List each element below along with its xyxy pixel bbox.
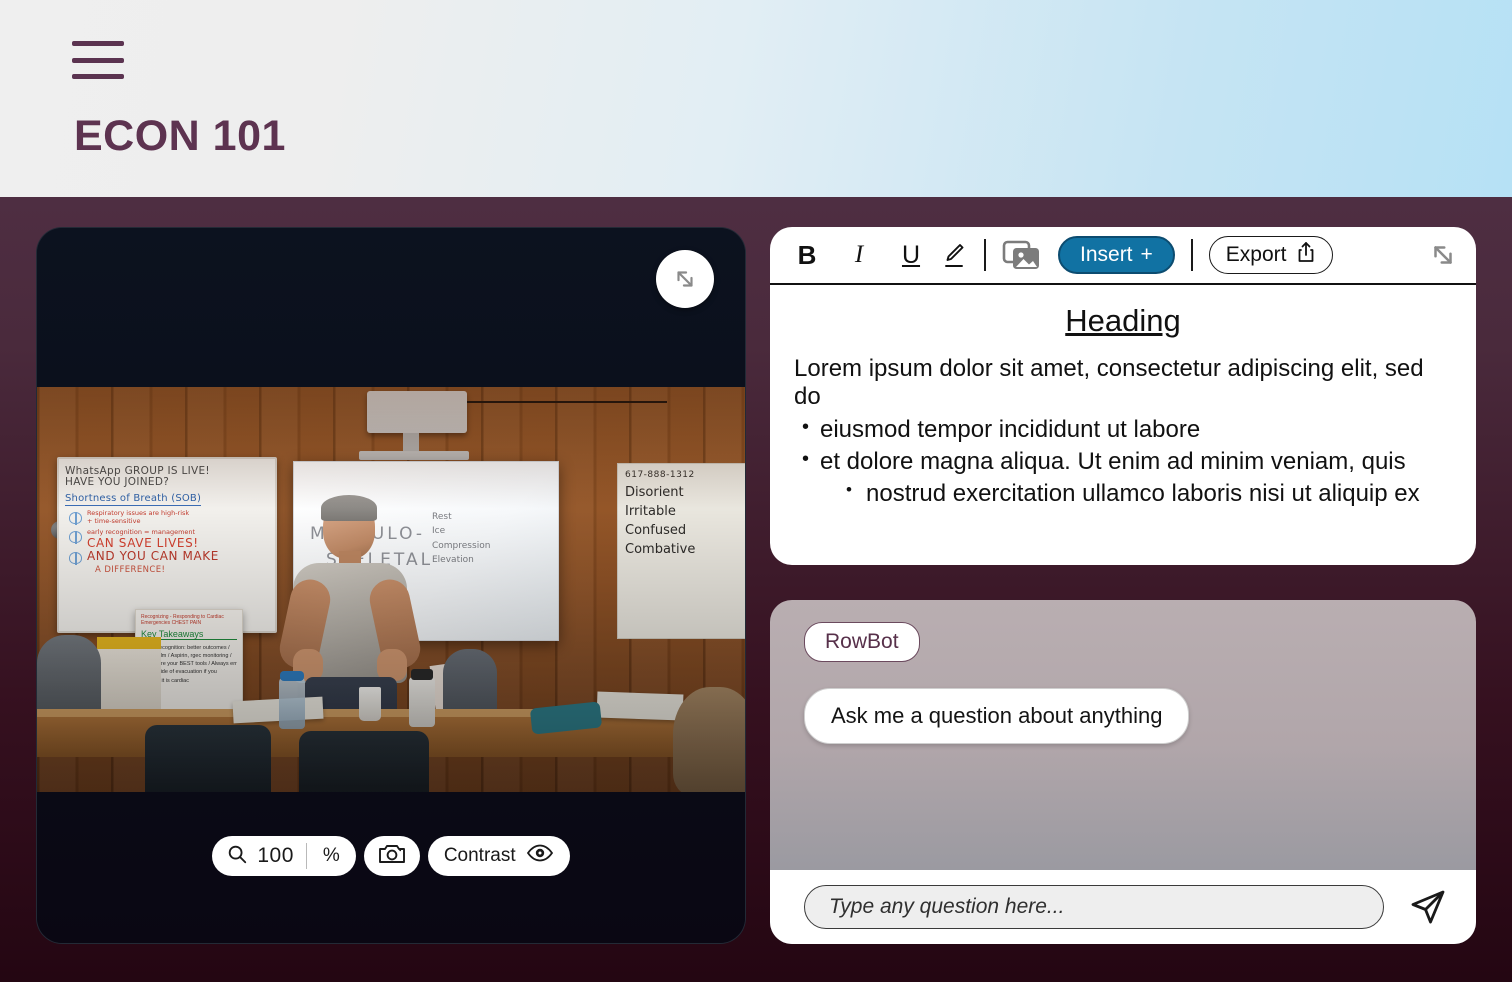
note-heading: Heading bbox=[794, 303, 1452, 339]
insert-label: Insert bbox=[1080, 243, 1133, 267]
bot-message-bubble: Ask me a question about anything bbox=[804, 688, 1189, 744]
bot-name-badge: RowBot bbox=[804, 622, 920, 662]
italic-button[interactable]: I bbox=[844, 235, 874, 275]
expand-diagonal-icon[interactable] bbox=[1428, 240, 1458, 270]
note-paragraph: Lorem ipsum dolor sit amet, consectetur … bbox=[794, 355, 1452, 412]
underline-button[interactable]: U bbox=[896, 235, 926, 275]
zoom-control[interactable]: 100 % bbox=[212, 836, 355, 876]
note-editor-panel: B I U Insert + bbox=[770, 227, 1476, 565]
app-root: ECON 101 WhatsApp GROUP IS LIVE! HAVE YO… bbox=[0, 0, 1512, 982]
images-icon[interactable] bbox=[1002, 235, 1042, 275]
magnifier-icon bbox=[226, 843, 248, 870]
expand-diagonal-icon[interactable] bbox=[656, 250, 714, 308]
camera-icon bbox=[378, 842, 406, 871]
plus-icon: + bbox=[1141, 243, 1153, 267]
share-upload-icon bbox=[1296, 241, 1316, 269]
classroom-photo: WhatsApp GROUP IS LIVE! HAVE YOU JOINED?… bbox=[37, 387, 746, 792]
photo-vignette bbox=[37, 387, 746, 792]
video-controls-bar: 100 % Contrast bbox=[37, 836, 745, 876]
toolbar-divider bbox=[984, 239, 986, 271]
bold-button[interactable]: B bbox=[792, 235, 822, 275]
app-header: ECON 101 bbox=[0, 0, 1512, 197]
video-panel: WhatsApp GROUP IS LIVE! HAVE YOU JOINED?… bbox=[36, 227, 746, 944]
insert-button[interactable]: Insert + bbox=[1058, 236, 1175, 274]
page-title: ECON 101 bbox=[74, 112, 286, 161]
pencil-highlight-icon[interactable] bbox=[938, 235, 968, 275]
camera-button[interactable] bbox=[364, 836, 420, 876]
note-content[interactable]: Heading Lorem ipsum dolor sit amet, cons… bbox=[770, 285, 1476, 509]
note-bullet-sub: nostrud exercitation ullamco laboris nis… bbox=[794, 480, 1452, 508]
hamburger-bar bbox=[72, 74, 124, 79]
contrast-label: Contrast bbox=[444, 845, 516, 867]
note-toolbar: B I U Insert + bbox=[770, 227, 1476, 285]
video-stage[interactable]: WhatsApp GROUP IS LIVE! HAVE YOU JOINED?… bbox=[37, 228, 745, 943]
export-button[interactable]: Export bbox=[1209, 236, 1333, 274]
chat-messages: RowBot Ask me a question about anything bbox=[770, 600, 1476, 870]
export-label: Export bbox=[1226, 243, 1287, 267]
hamburger-bar bbox=[72, 58, 124, 63]
note-bullet: eiusmod tempor incididunt ut labore bbox=[794, 416, 1452, 444]
note-bullet-list: eiusmod tempor incididunt ut labore et d… bbox=[794, 416, 1452, 509]
hamburger-menu-icon[interactable] bbox=[72, 38, 124, 82]
eye-icon bbox=[526, 843, 554, 869]
toolbar-divider bbox=[1191, 239, 1193, 271]
chat-panel: RowBot Ask me a question about anything bbox=[770, 600, 1476, 944]
contrast-button[interactable]: Contrast bbox=[428, 836, 570, 876]
zoom-value-group[interactable]: 100 bbox=[212, 836, 306, 876]
chat-input[interactable] bbox=[804, 885, 1384, 929]
note-bullet: et dolore magna aliqua. Ut enim ad minim… bbox=[794, 448, 1452, 476]
zoom-unit-button[interactable]: % bbox=[307, 845, 356, 867]
zoom-level-value: 100 bbox=[257, 844, 294, 868]
send-paper-plane-icon[interactable] bbox=[1402, 881, 1454, 933]
chat-input-row bbox=[770, 870, 1476, 944]
hamburger-bar bbox=[72, 41, 124, 46]
